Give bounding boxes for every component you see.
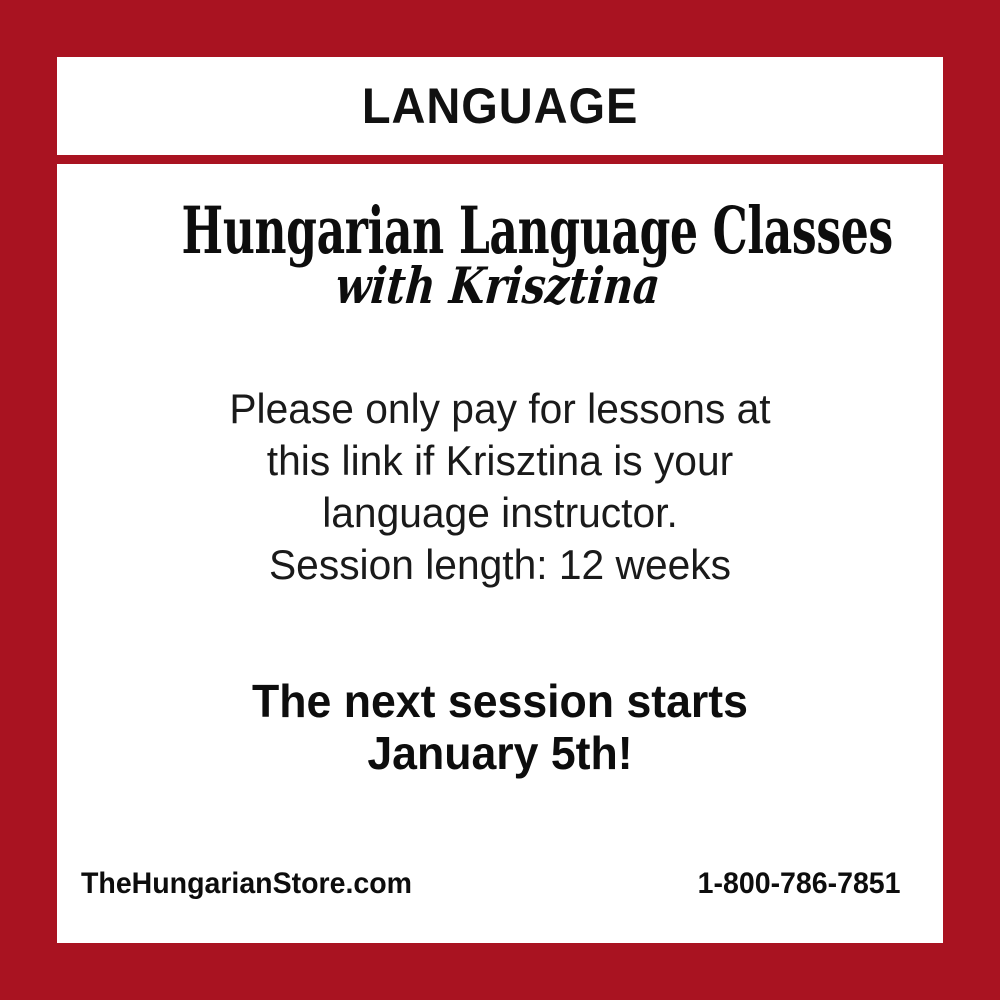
announcement-block: The next session starts January 5th!	[94, 675, 907, 779]
course-title: Hungarian Language Classes	[182, 198, 819, 264]
instructor-script-line: with Krisztina	[152, 261, 843, 311]
category-header: LANGUAGE	[57, 57, 943, 155]
announcement-date-line: January 5th!	[94, 727, 907, 779]
header-divider-rule	[57, 155, 943, 164]
description-line: language instructor.	[94, 487, 907, 539]
white-panel: LANGUAGE Hungarian Language Classes with…	[57, 57, 943, 943]
session-length-line: Session length: 12 weeks	[94, 539, 907, 591]
category-label: LANGUAGE	[362, 81, 638, 131]
description-paragraph: Please only pay for lessons at this link…	[94, 383, 907, 591]
description-line: Please only pay for lessons at	[94, 383, 907, 435]
flyer-body: Hungarian Language Classes with Krisztin…	[57, 164, 943, 943]
footer-phone-number[interactable]: 1-800-786-7851	[698, 869, 901, 899]
description-line: this link if Krisztina is your	[94, 435, 907, 487]
footer-website[interactable]: TheHungarianStore.com	[81, 869, 412, 899]
footer: TheHungarianStore.com 1-800-786-7851	[57, 869, 943, 899]
announcement-line: The next session starts	[94, 675, 907, 727]
flyer-card: LANGUAGE Hungarian Language Classes with…	[0, 0, 1000, 1000]
title-block: Hungarian Language Classes with Krisztin…	[81, 198, 919, 311]
